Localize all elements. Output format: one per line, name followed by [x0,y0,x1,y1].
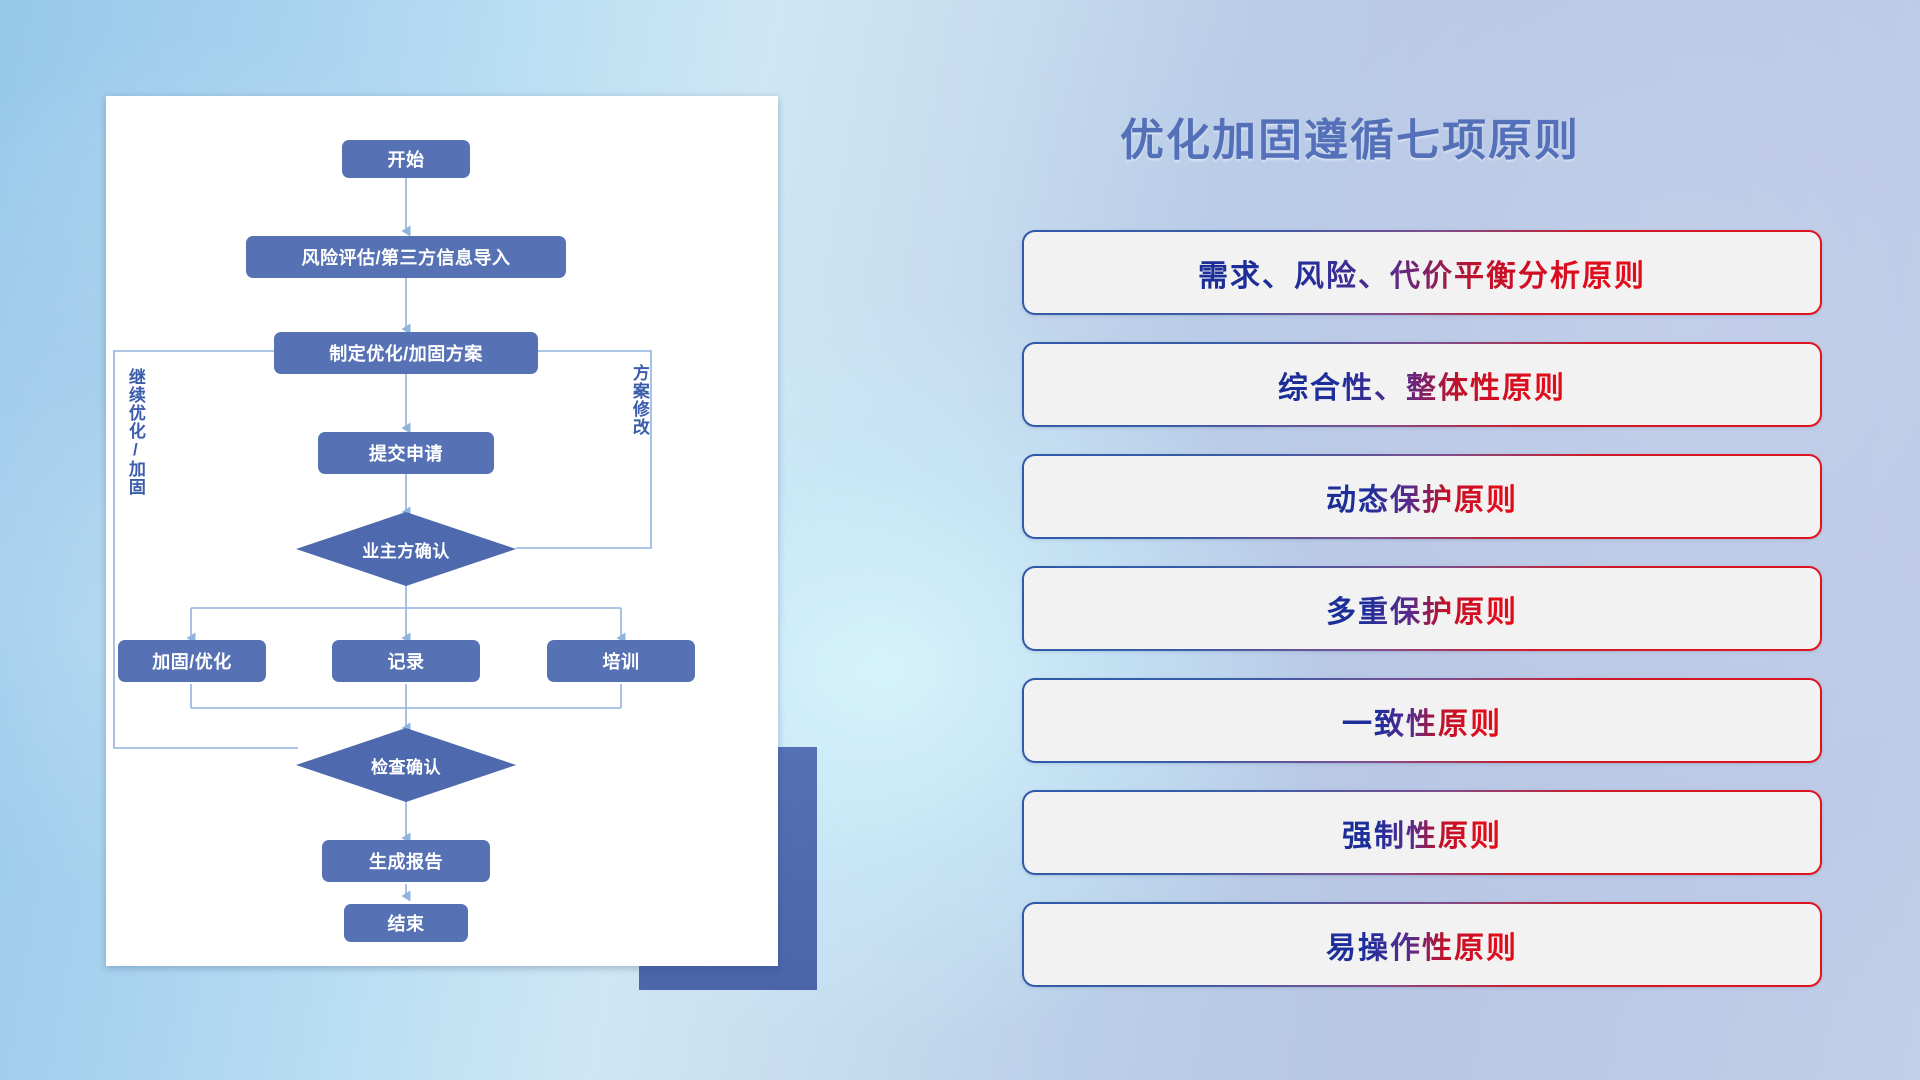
flow-node-submit[interactable]: 提交申请 [318,432,494,474]
principle-card[interactable]: 多重保护原则 [1022,566,1822,651]
flow-node-label: 提交申请 [369,440,443,466]
flow-node-start[interactable]: 开始 [342,140,470,178]
flow-label-continue-optimize: 继续优化/加固 [126,368,144,496]
principle-card[interactable]: 强制性原则 [1022,790,1822,875]
flowchart-card: 开始 风险评估/第三方信息导入 制定优化/加固方案 提交申请 业主方确认 加固/… [106,96,778,966]
flow-node-training[interactable]: 培训 [547,640,695,682]
principle-card[interactable]: 一致性原则 [1022,678,1822,763]
flow-node-label: 记录 [388,648,425,674]
principle-label: 动态保护原则 [1326,475,1518,519]
principles-title: 优化加固遵循七项原则 [1020,104,1680,168]
principle-label: 多重保护原则 [1326,587,1518,631]
principle-card[interactable]: 易操作性原则 [1022,902,1822,987]
flow-node-label: 培训 [603,648,640,674]
flow-node-label: 检查确认 [371,753,441,778]
principle-label: 综合性、整体性原则 [1278,363,1566,407]
principle-label: 强制性原则 [1342,811,1502,855]
flow-node-inspect-confirm[interactable]: 检查确认 [296,728,516,802]
slide-canvas: 开始 风险评估/第三方信息导入 制定优化/加固方案 提交申请 业主方确认 加固/… [0,0,1920,1080]
principle-card[interactable]: 需求、风险、代价平衡分析原则 [1022,230,1822,315]
flow-node-report[interactable]: 生成报告 [322,840,490,882]
flow-node-label: 加固/优化 [152,648,232,674]
flowchart-inner: 开始 风险评估/第三方信息导入 制定优化/加固方案 提交申请 业主方确认 加固/… [106,96,778,966]
flow-node-label: 结束 [388,910,425,936]
flow-node-label: 开始 [388,146,425,172]
flow-node-label: 制定优化/加固方案 [329,340,483,366]
principles-list: 需求、风险、代价平衡分析原则 综合性、整体性原则 动态保护原则 多重保护原则 一… [1022,230,1822,1014]
flow-node-record[interactable]: 记录 [332,640,480,682]
flow-node-label: 风险评估/第三方信息导入 [302,244,511,270]
flow-node-reinforce[interactable]: 加固/优化 [118,640,266,682]
flow-node-owner-confirm[interactable]: 业主方确认 [296,512,516,586]
flow-node-plan[interactable]: 制定优化/加固方案 [274,332,538,374]
flow-label-plan-revision: 方案修改 [630,364,648,436]
principle-label: 一致性原则 [1342,699,1502,743]
principle-card[interactable]: 动态保护原则 [1022,454,1822,539]
flow-node-label: 业主方确认 [362,537,450,562]
principle-label: 易操作性原则 [1326,923,1518,967]
principle-card[interactable]: 综合性、整体性原则 [1022,342,1822,427]
principle-label: 需求、风险、代价平衡分析原则 [1198,251,1646,295]
flow-node-end[interactable]: 结束 [344,904,468,942]
flow-node-label: 生成报告 [369,848,443,874]
flow-node-risk-assessment[interactable]: 风险评估/第三方信息导入 [246,236,566,278]
